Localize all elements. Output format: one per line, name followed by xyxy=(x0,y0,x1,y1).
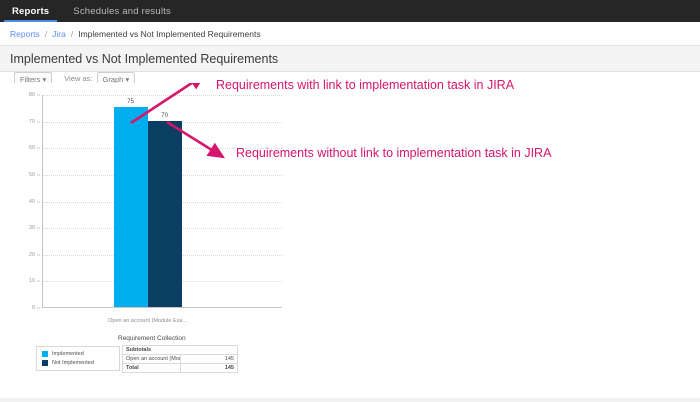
bar-value-label: 75 xyxy=(127,99,134,105)
y-axis-tick-mark xyxy=(37,254,40,255)
breadcrumb: Reports / Jira / Implemented vs Not Impl… xyxy=(0,22,700,46)
y-axis-tick-mark xyxy=(37,95,40,96)
y-axis-tick-mark xyxy=(37,174,40,175)
requirement-collection-table: Subtotals Open an account (Module Exampl… xyxy=(122,345,238,373)
y-axis-tick-label: 0 xyxy=(32,305,35,311)
y-axis-tick-label: 10 xyxy=(29,278,35,284)
page-title-bar: Implemented vs Not Implemented Requireme… xyxy=(0,46,700,72)
breadcrumb-separator: / xyxy=(45,29,47,39)
report-canvas: 01020304050607080 7570 Open an account (… xyxy=(0,83,700,402)
plot-area: 7570 xyxy=(42,95,282,308)
table-caption: Requirement Collection xyxy=(118,335,238,342)
y-axis-tick-label: 60 xyxy=(29,145,35,151)
breadcrumb-item-reports[interactable]: Reports xyxy=(10,29,40,39)
y-axis-tick-label: 30 xyxy=(29,225,35,231)
tab-schedules-and-results[interactable]: Schedules and results xyxy=(61,0,183,22)
bar-series-group: 7570 xyxy=(42,95,282,307)
breadcrumb-separator: / xyxy=(71,29,73,39)
y-axis-tick-label: 50 xyxy=(29,172,35,178)
bottom-divider xyxy=(0,398,700,402)
y-axis-tick-mark xyxy=(37,148,40,149)
bar-implemented[interactable] xyxy=(114,107,148,307)
chart-legend: ImplementedNot Implemented xyxy=(36,346,120,371)
bar-not-implemented[interactable] xyxy=(148,121,182,307)
y-axis-tick-mark xyxy=(37,201,40,202)
legend-item-label: Implemented xyxy=(52,351,84,357)
table-header-subtotals: Subtotals xyxy=(123,346,238,355)
breadcrumb-item-current: Implemented vs Not Implemented Requireme… xyxy=(78,29,260,39)
tab-reports-label: Reports xyxy=(12,6,49,17)
table-row: Open an account (Module Example)145 xyxy=(123,355,238,364)
legend-color-swatch xyxy=(42,351,48,357)
legend-item[interactable]: Not Implemented xyxy=(42,360,114,366)
legend-item-label: Not Implemented xyxy=(52,360,94,366)
y-axis-tick-label: 70 xyxy=(29,119,35,125)
table-header-row: Subtotals xyxy=(123,346,238,355)
view-as-select[interactable]: Graph ▾ xyxy=(97,72,136,83)
y-axis-tick-label: 40 xyxy=(29,199,35,205)
view-as-label: View as: xyxy=(64,72,92,83)
y-axis-tick-mark xyxy=(37,121,40,122)
tab-schedules-and-results-label: Schedules and results xyxy=(73,6,171,17)
table-cell-value: 145 xyxy=(180,355,238,364)
table-cell-value: 145 xyxy=(180,364,238,373)
legend-color-swatch xyxy=(42,360,48,366)
top-navigation-bar: Reports Schedules and results xyxy=(0,0,700,22)
table-cell-label: Open an account (Module Example) xyxy=(123,355,181,364)
x-axis-category-labels: Open an account (Module Exa... xyxy=(42,308,282,330)
page-title: Implemented vs Not Implemented Requireme… xyxy=(10,52,278,66)
chevron-down-icon: ▾ xyxy=(43,75,47,83)
view-as-group: View as: Graph ▾ xyxy=(64,72,147,83)
y-axis-tick-label: 20 xyxy=(29,252,35,258)
y-axis-tick-label: 80 xyxy=(29,92,35,98)
requirement-collection-table-block: Requirement Collection Subtotals Open an… xyxy=(118,335,238,373)
breadcrumb-item-jira[interactable]: Jira xyxy=(52,29,66,39)
chevron-down-icon: ▾ xyxy=(125,75,129,83)
filters-button[interactable]: Filters ▾ xyxy=(14,72,52,83)
y-axis-tick-mark xyxy=(37,228,40,229)
legend-item[interactable]: Implemented xyxy=(42,351,114,357)
y-axis-tick-mark xyxy=(37,308,40,309)
table-cell-label: Total xyxy=(123,364,181,373)
bar-value-label: 70 xyxy=(161,113,168,119)
annotation-label-implemented: Requirements with link to implementation… xyxy=(216,78,514,92)
bar-chart: 01020304050607080 7570 Open an account (… xyxy=(14,87,286,330)
annotation-label-not-implemented: Requirements without link to implementat… xyxy=(236,146,551,160)
view-as-value: Graph xyxy=(103,75,124,83)
table-row: Total145 xyxy=(123,364,238,373)
tab-reports[interactable]: Reports xyxy=(0,0,61,22)
filters-button-label: Filters xyxy=(20,75,40,83)
y-axis-tick-mark xyxy=(37,281,40,282)
y-axis: 01020304050607080 xyxy=(14,95,40,308)
x-axis-category-label: Open an account (Module Exa... xyxy=(108,318,187,324)
